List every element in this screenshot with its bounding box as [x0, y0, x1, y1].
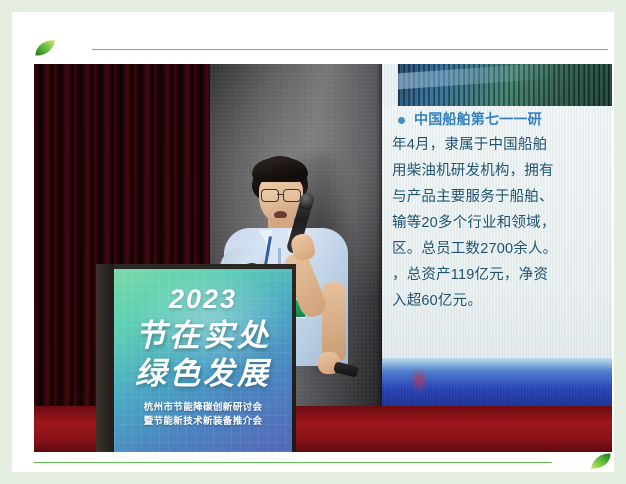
slide-text-line: 年4月，隶属于中国船舶: [382, 132, 612, 158]
podium-banner: 2023 节在实处 绿色发展 杭州市节能降碳创新研讨会 暨节能新技术新装备推介会: [114, 269, 292, 452]
glasses-icon: [283, 189, 301, 202]
slide-text-line: 区。总员工数2700余人。: [382, 236, 612, 262]
podium: 2023 节在实处 绿色发展 杭州市节能降碳创新研讨会 暨节能新技术新装备推介会: [96, 264, 296, 452]
speaker-arm: [322, 282, 346, 362]
glasses-bridge: [277, 194, 283, 195]
slide-text-line: 与产品主要服务于船舶、: [382, 184, 612, 210]
leaf-icon: [34, 39, 56, 57]
page-frame: 中国船舶第七一一研 年4月，隶属于中国船舶 用柴油机研发机构，拥有 与产品主要服…: [0, 0, 626, 484]
slide-footer-image: [382, 358, 612, 406]
glasses-icon: [261, 189, 279, 202]
bullet-icon: [398, 117, 405, 124]
podium-side-panel: [96, 264, 114, 452]
banner-content: 2023 节在实处 绿色发展 杭州市节能降碳创新研讨会 暨节能新技术新装备推介会: [114, 285, 292, 452]
slide-heading-text: 中国船舶第七一一研: [414, 111, 542, 127]
divider-top: [92, 49, 608, 50]
slide-text-line: 用柴油机研发机构，拥有: [382, 158, 612, 184]
slide-header-image: [398, 64, 612, 106]
slide-text-line: 入超60亿元。: [382, 288, 612, 314]
white-card: 中国船舶第七一一研 年4月，隶属于中国船舶 用柴油机研发机构，拥有 与产品主要服…: [12, 12, 614, 472]
slide-text-line: ，总资产119亿元，净资: [382, 262, 612, 288]
slide-heading: 中国船舶第七一一研: [382, 106, 612, 132]
banner-title-line-1: 节在实处: [114, 317, 292, 355]
banner-subtitle-line-2: 暨节能新技术新装备推介会: [114, 415, 292, 429]
banner-title-line-2: 绿色发展: [114, 355, 292, 393]
leaf-icon: [590, 452, 612, 470]
conference-photo: 中国船舶第七一一研 年4月，隶属于中国船舶 用柴油机研发机构，拥有 与产品主要服…: [34, 64, 612, 452]
banner-brush-mark: 2023: [114, 285, 292, 313]
slide-body: 中国船舶第七一一研 年4月，隶属于中国船舶 用柴油机研发机构，拥有 与产品主要服…: [382, 106, 612, 358]
speaker-fringe: [252, 158, 308, 182]
banner-subtitle-line-1: 杭州市节能降碳创新研讨会: [114, 401, 292, 415]
slide-text-line: 输等20多个行业和领域，: [382, 210, 612, 236]
divider-bottom: [34, 462, 552, 463]
projection-screen: 中国船舶第七一一研 年4月，隶属于中国船舶 用柴油机研发机构，拥有 与产品主要服…: [382, 64, 612, 406]
